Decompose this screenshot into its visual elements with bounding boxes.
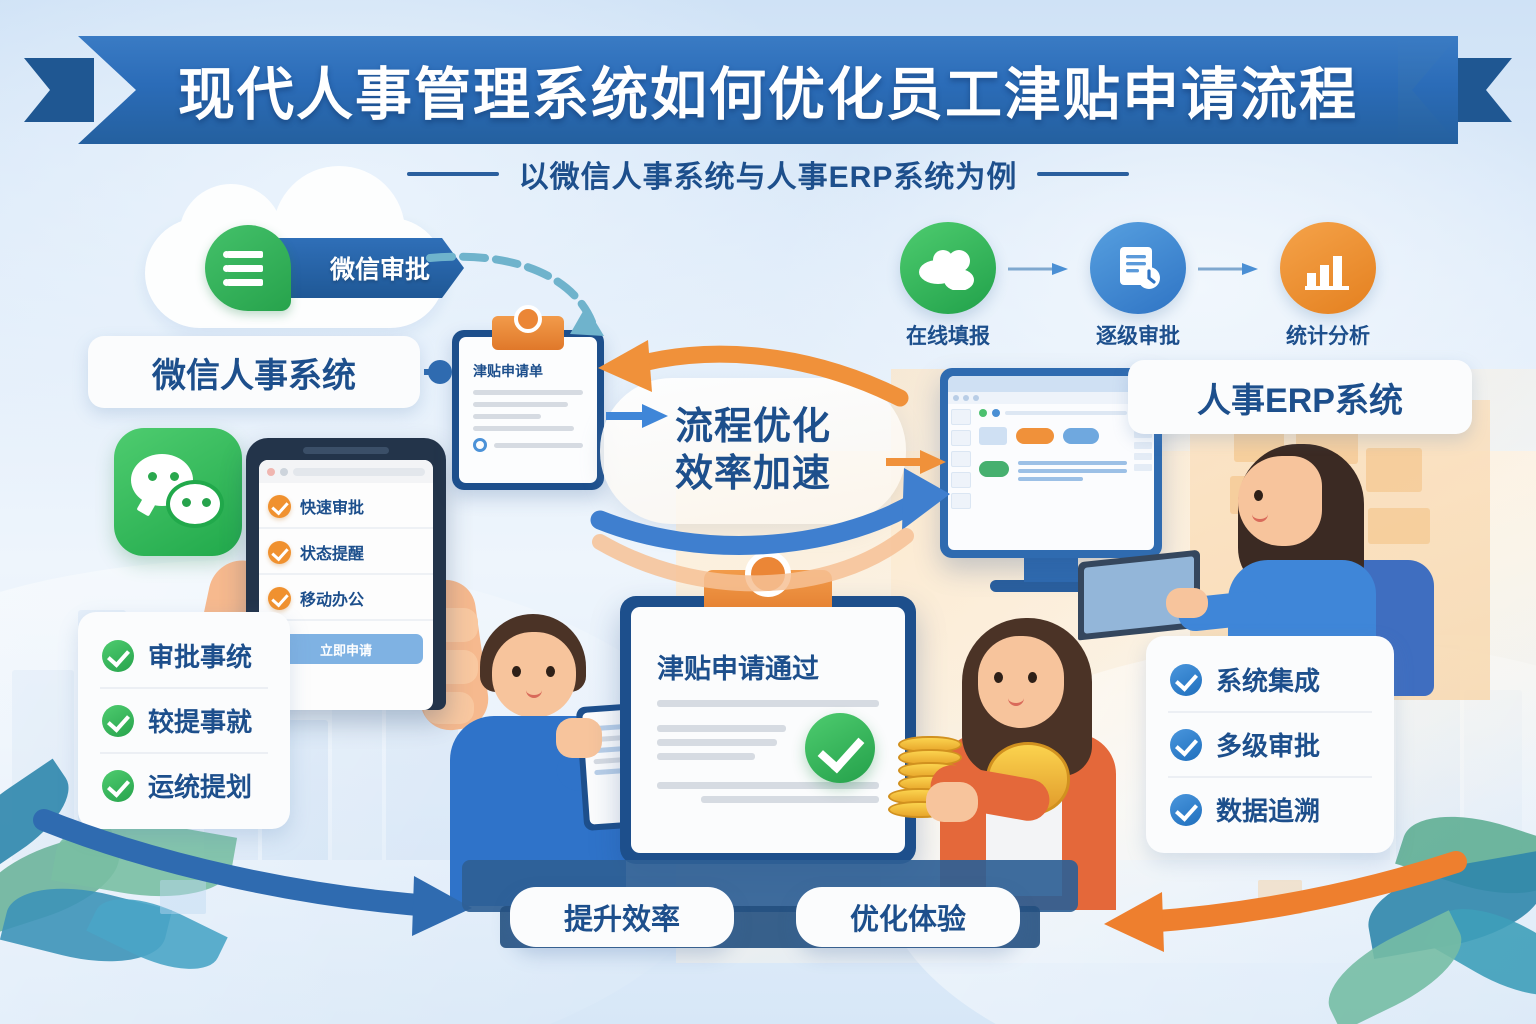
process-step-label: 统计分析 xyxy=(1272,320,1384,350)
right-check-label: 系统集成 xyxy=(1216,661,1320,698)
arrow-right-icon xyxy=(1008,262,1070,276)
left-check-label: 运统提划 xyxy=(148,767,252,804)
person-coins-hand xyxy=(926,782,978,822)
main-clipboard-title: 津贴申请通过 xyxy=(657,647,879,686)
right-check-label: 数据追溯 xyxy=(1216,791,1320,828)
phone-list-item[interactable]: 状态提醒 xyxy=(259,529,433,575)
right-check-label: 多级审批 xyxy=(1216,726,1320,763)
person-right-face xyxy=(1238,456,1322,546)
process-step: 在线填报 xyxy=(892,222,1004,350)
blue-check-icon xyxy=(1170,729,1202,761)
subtitle-dash-left xyxy=(407,172,499,176)
document-clock-icon xyxy=(1090,222,1186,314)
wechat-logo-icon xyxy=(114,428,242,556)
application-form-clipboard: 津贴申请单 xyxy=(452,330,604,490)
phone-speaker xyxy=(303,447,389,454)
green-check-icon xyxy=(102,640,134,672)
cloud-chip-label: 微信审批 xyxy=(330,250,430,286)
list-item: 审批事统 xyxy=(100,624,268,687)
bottom-pill-1-label: 提升效率 xyxy=(564,896,680,938)
center-line-1: 流程优化 xyxy=(675,406,831,449)
bar-chart-icon xyxy=(1280,222,1376,314)
person-coins-face xyxy=(978,636,1064,728)
phone-address-bar xyxy=(293,468,425,476)
erp-system-label: 人事ERP系统 xyxy=(1197,373,1403,422)
wechat-system-label-card: 微信人事系统 xyxy=(88,336,420,408)
center-message: 流程优化 效率加速 xyxy=(600,378,906,524)
orange-check-icon xyxy=(268,541,291,564)
page-subtitle: 以微信人事系统与人事ERP系统为例 xyxy=(519,152,1018,196)
clipboard-title: 津贴申请单 xyxy=(473,361,583,381)
infographic-canvas: 现代人事管理系统如何优化员工津贴申请流程 以微信人事系统与人事ERP系统为例 微… xyxy=(0,0,1536,1024)
clipboard-paper: 津贴申请单 xyxy=(459,337,597,483)
center-line-2: 效率加速 xyxy=(675,453,831,496)
person-left-hand xyxy=(556,718,602,758)
green-check-icon xyxy=(102,770,134,802)
green-check-circle-icon xyxy=(805,713,875,783)
phone-app-bar xyxy=(259,460,433,483)
list-item: 较提事就 xyxy=(100,687,268,752)
process-steps-row: 在线填报 逐级审批 统计分析 xyxy=(892,222,1384,342)
blue-check-icon xyxy=(1170,794,1202,826)
left-check-label: 较提事就 xyxy=(148,702,252,739)
erp-main-area xyxy=(974,404,1132,550)
orange-check-icon xyxy=(268,495,291,518)
process-step-label: 逐级审批 xyxy=(1082,320,1194,350)
erp-system-label-card: 人事ERP系统 xyxy=(1128,360,1472,434)
list-chat-bubble-icon xyxy=(205,225,291,311)
tile-decoration xyxy=(1258,880,1302,914)
list-item: 运统提划 xyxy=(100,752,268,817)
phone-item-label: 状态提醒 xyxy=(300,540,364,564)
monitor-screen xyxy=(948,376,1154,550)
phone-dot-2 xyxy=(280,468,288,476)
cloud-chip: 微信审批 xyxy=(274,238,464,298)
approved-application-clipboard: 津贴申请通过 xyxy=(620,596,916,864)
arrow-right-icon xyxy=(1198,262,1260,276)
phone-item-label: 快速审批 xyxy=(300,494,364,518)
erp-sidebar xyxy=(948,404,974,550)
tile-decoration xyxy=(160,880,206,914)
subtitle-dash-right xyxy=(1037,172,1129,176)
process-step: 逐级审批 xyxy=(1082,222,1194,350)
erp-action-button[interactable] xyxy=(979,461,1009,477)
list-item: 系统集成 xyxy=(1168,648,1372,711)
orange-check-icon xyxy=(268,587,291,610)
phone-dot-1 xyxy=(267,468,275,476)
person-left-face xyxy=(492,632,576,718)
phone-item-label: 移动办公 xyxy=(300,586,364,610)
monitor-stand xyxy=(1024,556,1078,582)
people-cloud-icon xyxy=(900,222,996,314)
blue-check-icon xyxy=(1170,664,1202,696)
radio-icon xyxy=(473,438,487,452)
process-step-label: 在线填报 xyxy=(892,320,1004,350)
erp-action-button[interactable] xyxy=(1016,428,1054,444)
erp-dashboard xyxy=(948,404,1154,550)
right-benefits-card: 系统集成 多级审批 数据追溯 xyxy=(1146,636,1394,853)
left-benefits-card: 审批事统 较提事就 运统提划 xyxy=(78,612,290,829)
left-check-label: 审批事统 xyxy=(148,637,252,674)
title-banner: 现代人事管理系统如何优化员工津贴申请流程 xyxy=(0,36,1536,156)
list-item: 数据追溯 xyxy=(1168,776,1372,841)
wechat-system-label: 微信人事系统 xyxy=(152,348,356,397)
person-right-hand xyxy=(1166,588,1208,618)
clipboard-clamp-icon xyxy=(492,316,564,350)
page-title: 现代人事管理系统如何优化员工津贴申请流程 xyxy=(78,36,1458,144)
bottom-pill-2: 优化体验 xyxy=(796,887,1020,947)
bottom-pill-2-label: 优化体验 xyxy=(850,896,966,938)
list-item: 多级审批 xyxy=(1168,711,1372,776)
erp-window-titlebar xyxy=(948,376,1154,392)
erp-toolbar xyxy=(948,392,1154,404)
phone-list-item[interactable]: 移动办公 xyxy=(259,575,433,621)
erp-action-button[interactable] xyxy=(1063,428,1099,444)
clipboard-paper: 津贴申请通过 xyxy=(631,607,905,853)
phone-list-item[interactable]: 快速审批 xyxy=(259,483,433,529)
green-check-icon xyxy=(102,705,134,737)
phone-submit-button[interactable]: 立即申请 xyxy=(269,634,423,664)
process-step: 统计分析 xyxy=(1272,222,1384,350)
bottom-pill-1: 提升效率 xyxy=(510,887,734,947)
